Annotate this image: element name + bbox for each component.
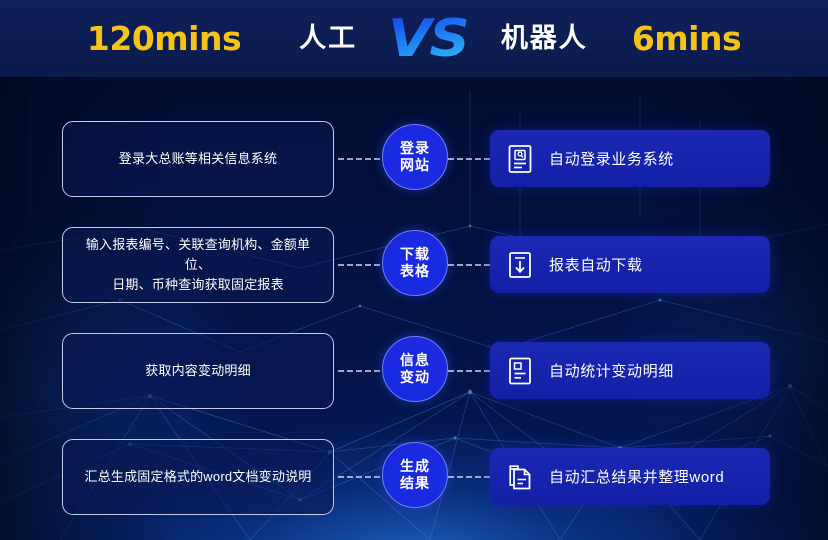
manual-step-box-3: 获取内容变动明细 <box>62 333 334 409</box>
connector-dashed-left-1 <box>338 158 380 160</box>
manual-label: 人工 <box>299 25 357 52</box>
download-arrow-icon <box>507 250 533 280</box>
report-document-icon <box>507 356 533 386</box>
robot-step-bar-3: 自动统计变动明细 <box>490 342 770 399</box>
step-circle-line1-4: 生成 <box>400 458 430 475</box>
step-circle-line2-4: 结果 <box>400 475 430 492</box>
process-row-2: 输入报表编号、关联查询机构、金额单位、 日期、币种查询获取固定报表 下载 表格 … <box>0 227 828 303</box>
step-circle-2: 下载 表格 <box>382 230 448 296</box>
robot-label: 机器人 <box>501 25 588 52</box>
connector-dashed-left-3 <box>338 370 380 372</box>
robot-step-text-2: 报表自动下载 <box>549 254 643 275</box>
process-row-3: 获取内容变动明细 信息 变动 自动统计变动明细 <box>0 333 828 409</box>
connector-dashed-left-2 <box>338 264 380 266</box>
header-banner: 120mins 人工 VS 机器人 6mins <box>0 0 828 77</box>
manual-step-text-2: 输入报表编号、关联查询机构、金额单位、 日期、币种查询获取固定报表 <box>75 235 321 295</box>
infographic-canvas: 120mins 人工 VS 机器人 6mins 登录大总账等相关信息系统 登录 … <box>0 0 828 540</box>
process-row-4: 汇总生成固定格式的word文档变动说明 生成 结果 自动汇总结果并整理word <box>0 439 828 515</box>
step-circle-line1-3: 信息 <box>400 352 430 369</box>
process-row-1: 登录大总账等相关信息系统 登录 网站 自动登录业务系统 <box>0 121 828 197</box>
connector-dashed-right-1 <box>448 158 490 160</box>
robot-step-text-3: 自动统计变动明细 <box>549 360 674 381</box>
connector-dashed-left-4 <box>338 476 380 478</box>
step-circle-line2-2: 表格 <box>400 263 430 280</box>
manual-step-box-1: 登录大总账等相关信息系统 <box>62 121 334 197</box>
robot-step-bar-1: 自动登录业务系统 <box>490 130 770 187</box>
manual-step-text-2-line2: 日期、币种查询获取固定报表 <box>75 275 321 295</box>
manual-step-box-2: 输入报表编号、关联查询机构、金额单位、 日期、币种查询获取固定报表 <box>62 227 334 303</box>
connector-dashed-right-2 <box>448 264 490 266</box>
step-circle-4: 生成 结果 <box>382 442 448 508</box>
manual-duration: 120mins <box>87 22 241 55</box>
manual-step-text-3: 获取内容变动明细 <box>145 361 251 381</box>
step-circle-line1-1: 登录 <box>400 140 430 157</box>
step-circle-line2-1: 网站 <box>400 157 430 174</box>
step-circle-line1-2: 下载 <box>400 246 430 263</box>
connector-dashed-right-3 <box>448 370 490 372</box>
robot-step-bar-4: 自动汇总结果并整理word <box>490 448 770 505</box>
step-circle-3: 信息 变动 <box>382 336 448 402</box>
document-profile-search-icon <box>507 144 533 174</box>
vs-logo: VS <box>388 13 468 65</box>
robot-step-text-4: 自动汇总结果并整理word <box>549 466 724 487</box>
manual-step-box-4: 汇总生成固定格式的word文档变动说明 <box>62 439 334 515</box>
step-circle-1: 登录 网站 <box>382 124 448 190</box>
robot-step-text-1: 自动登录业务系统 <box>549 148 674 169</box>
robot-step-bar-2: 报表自动下载 <box>490 236 770 293</box>
robot-duration: 6mins <box>632 22 741 55</box>
copy-documents-icon <box>507 462 533 492</box>
manual-step-text-2-line1: 输入报表编号、关联查询机构、金额单位、 <box>75 235 321 275</box>
manual-step-text-4: 汇总生成固定格式的word文档变动说明 <box>85 467 312 487</box>
connector-dashed-right-4 <box>448 476 490 478</box>
manual-step-text-1: 登录大总账等相关信息系统 <box>119 149 277 169</box>
step-circle-line2-3: 变动 <box>400 369 430 386</box>
